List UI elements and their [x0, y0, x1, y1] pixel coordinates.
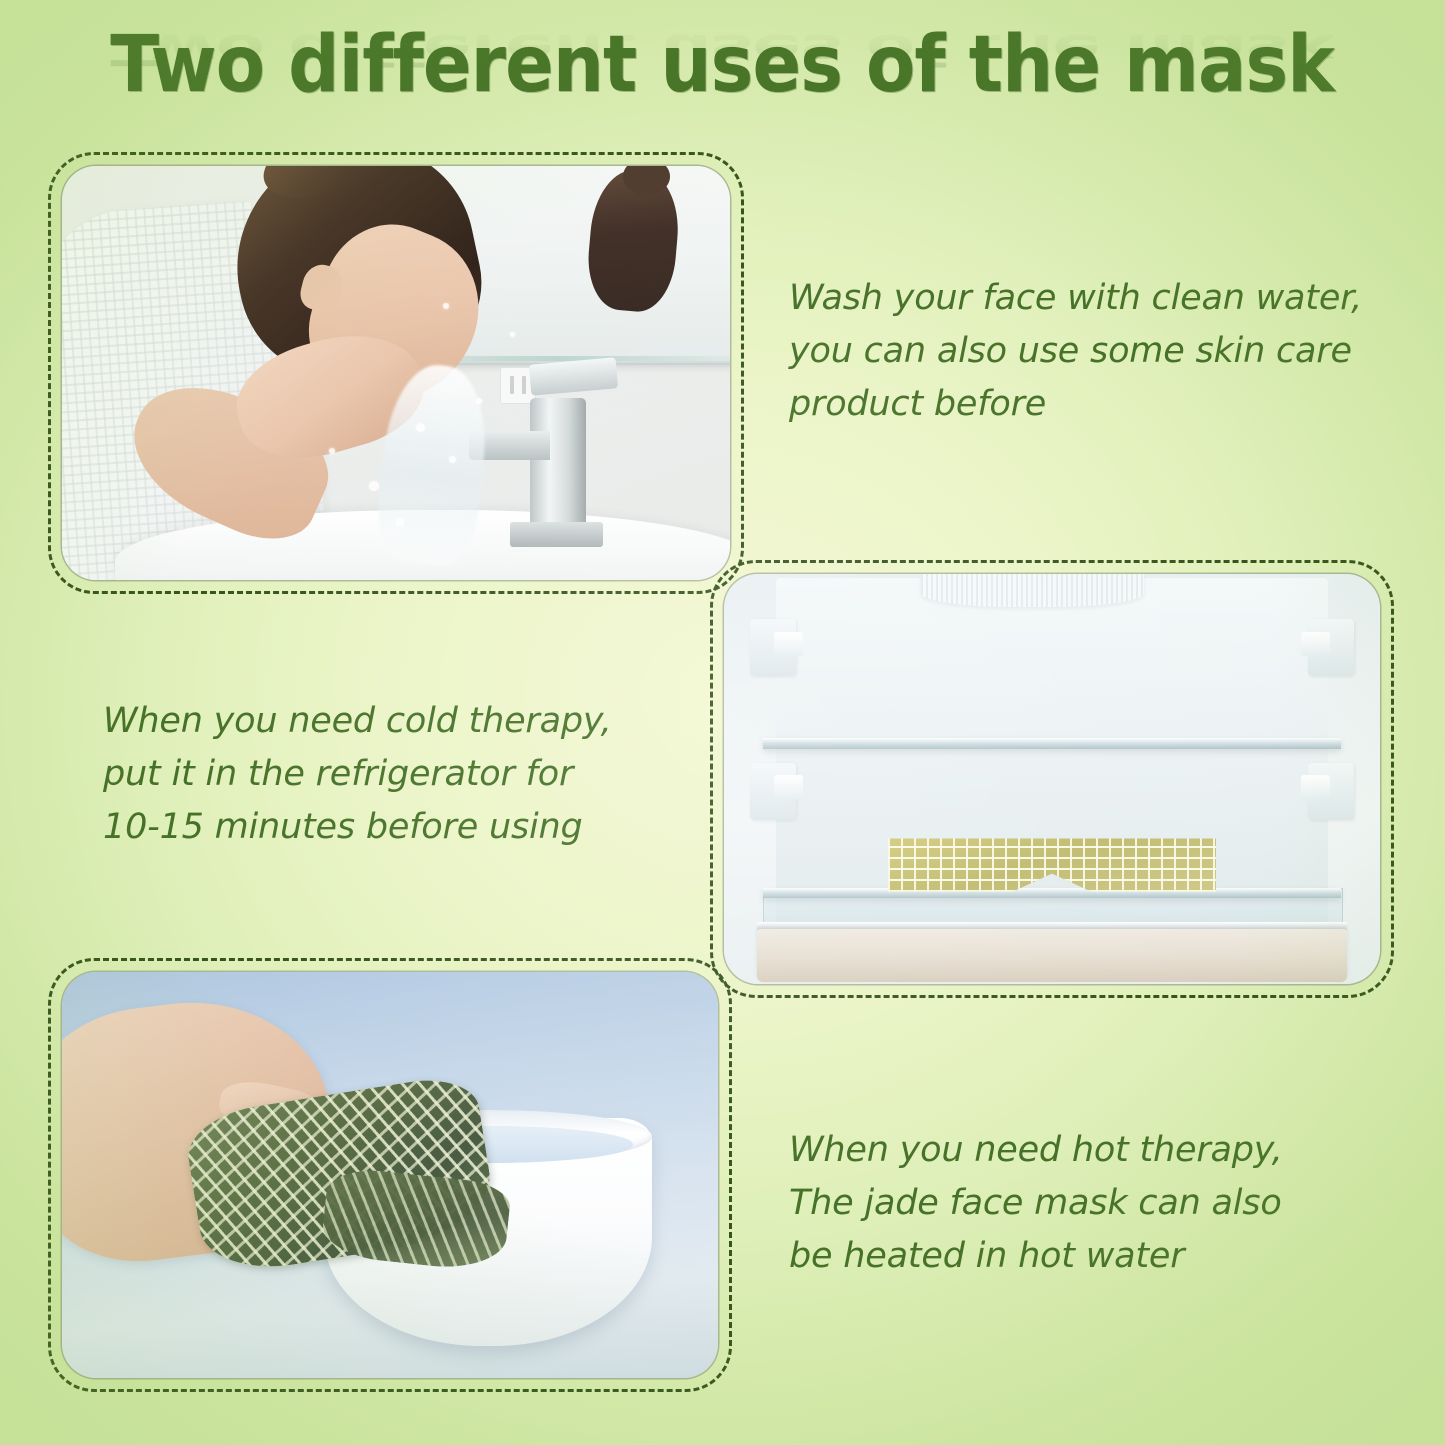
refrigerator-drawer: [757, 929, 1347, 982]
faucet-base: [510, 522, 604, 547]
refrigerator-top-vent: [921, 574, 1144, 607]
caption-cold-therapy: When you need cold therapy, put it in th…: [103, 695, 693, 855]
glass-shelf-upper: [763, 738, 1340, 749]
water-droplet: [476, 398, 482, 404]
water-droplet: [396, 518, 404, 526]
caption-line: put it in the refrigerator for: [103, 748, 693, 801]
photo-refrigerator-scene: [724, 574, 1380, 984]
shelf-rail-left-upper: [750, 619, 796, 676]
shelf-rail-right-lower: [1308, 763, 1354, 820]
photo-wash-face: [62, 166, 730, 580]
caption-line: When you need hot therapy,: [789, 1124, 1389, 1177]
glass-shelf-lower: [763, 888, 1340, 899]
caption-line: 10-15 minutes before using: [103, 801, 693, 854]
caption-line: be heated in hot water: [789, 1230, 1389, 1283]
water-droplet: [416, 423, 425, 432]
photo-wash-face-scene: [62, 166, 730, 580]
faucet-body: [530, 398, 587, 535]
infographic-poster: Two different uses of the mask Two diffe…: [0, 0, 1445, 1445]
caption-line: you can also use some skin care: [789, 325, 1399, 378]
caption-line: product before: [789, 378, 1399, 431]
caption-line: When you need cold therapy,: [103, 695, 693, 748]
water-droplet: [329, 448, 335, 454]
caption-wash-face: Wash your face with clean water, you can…: [789, 272, 1399, 432]
page-title-text: Two different uses of the mask: [111, 26, 1335, 104]
water-droplet: [443, 303, 449, 309]
caption-hot-therapy: When you need hot therapy, The jade face…: [789, 1124, 1389, 1284]
photo-refrigerator: [724, 574, 1380, 984]
water-droplet: [369, 481, 379, 491]
shelf-rail-left-lower: [750, 763, 796, 820]
shelf-rail-right-upper: [1308, 619, 1354, 676]
water-droplet: [510, 332, 515, 337]
photo-hot-water-scene: [62, 972, 718, 1378]
photo-hot-water: [62, 972, 718, 1378]
page-title: Two different uses of the mask: [0, 26, 1445, 104]
caption-line: The jade face mask can also: [789, 1177, 1389, 1230]
caption-line: Wash your face with clean water,: [789, 272, 1399, 325]
